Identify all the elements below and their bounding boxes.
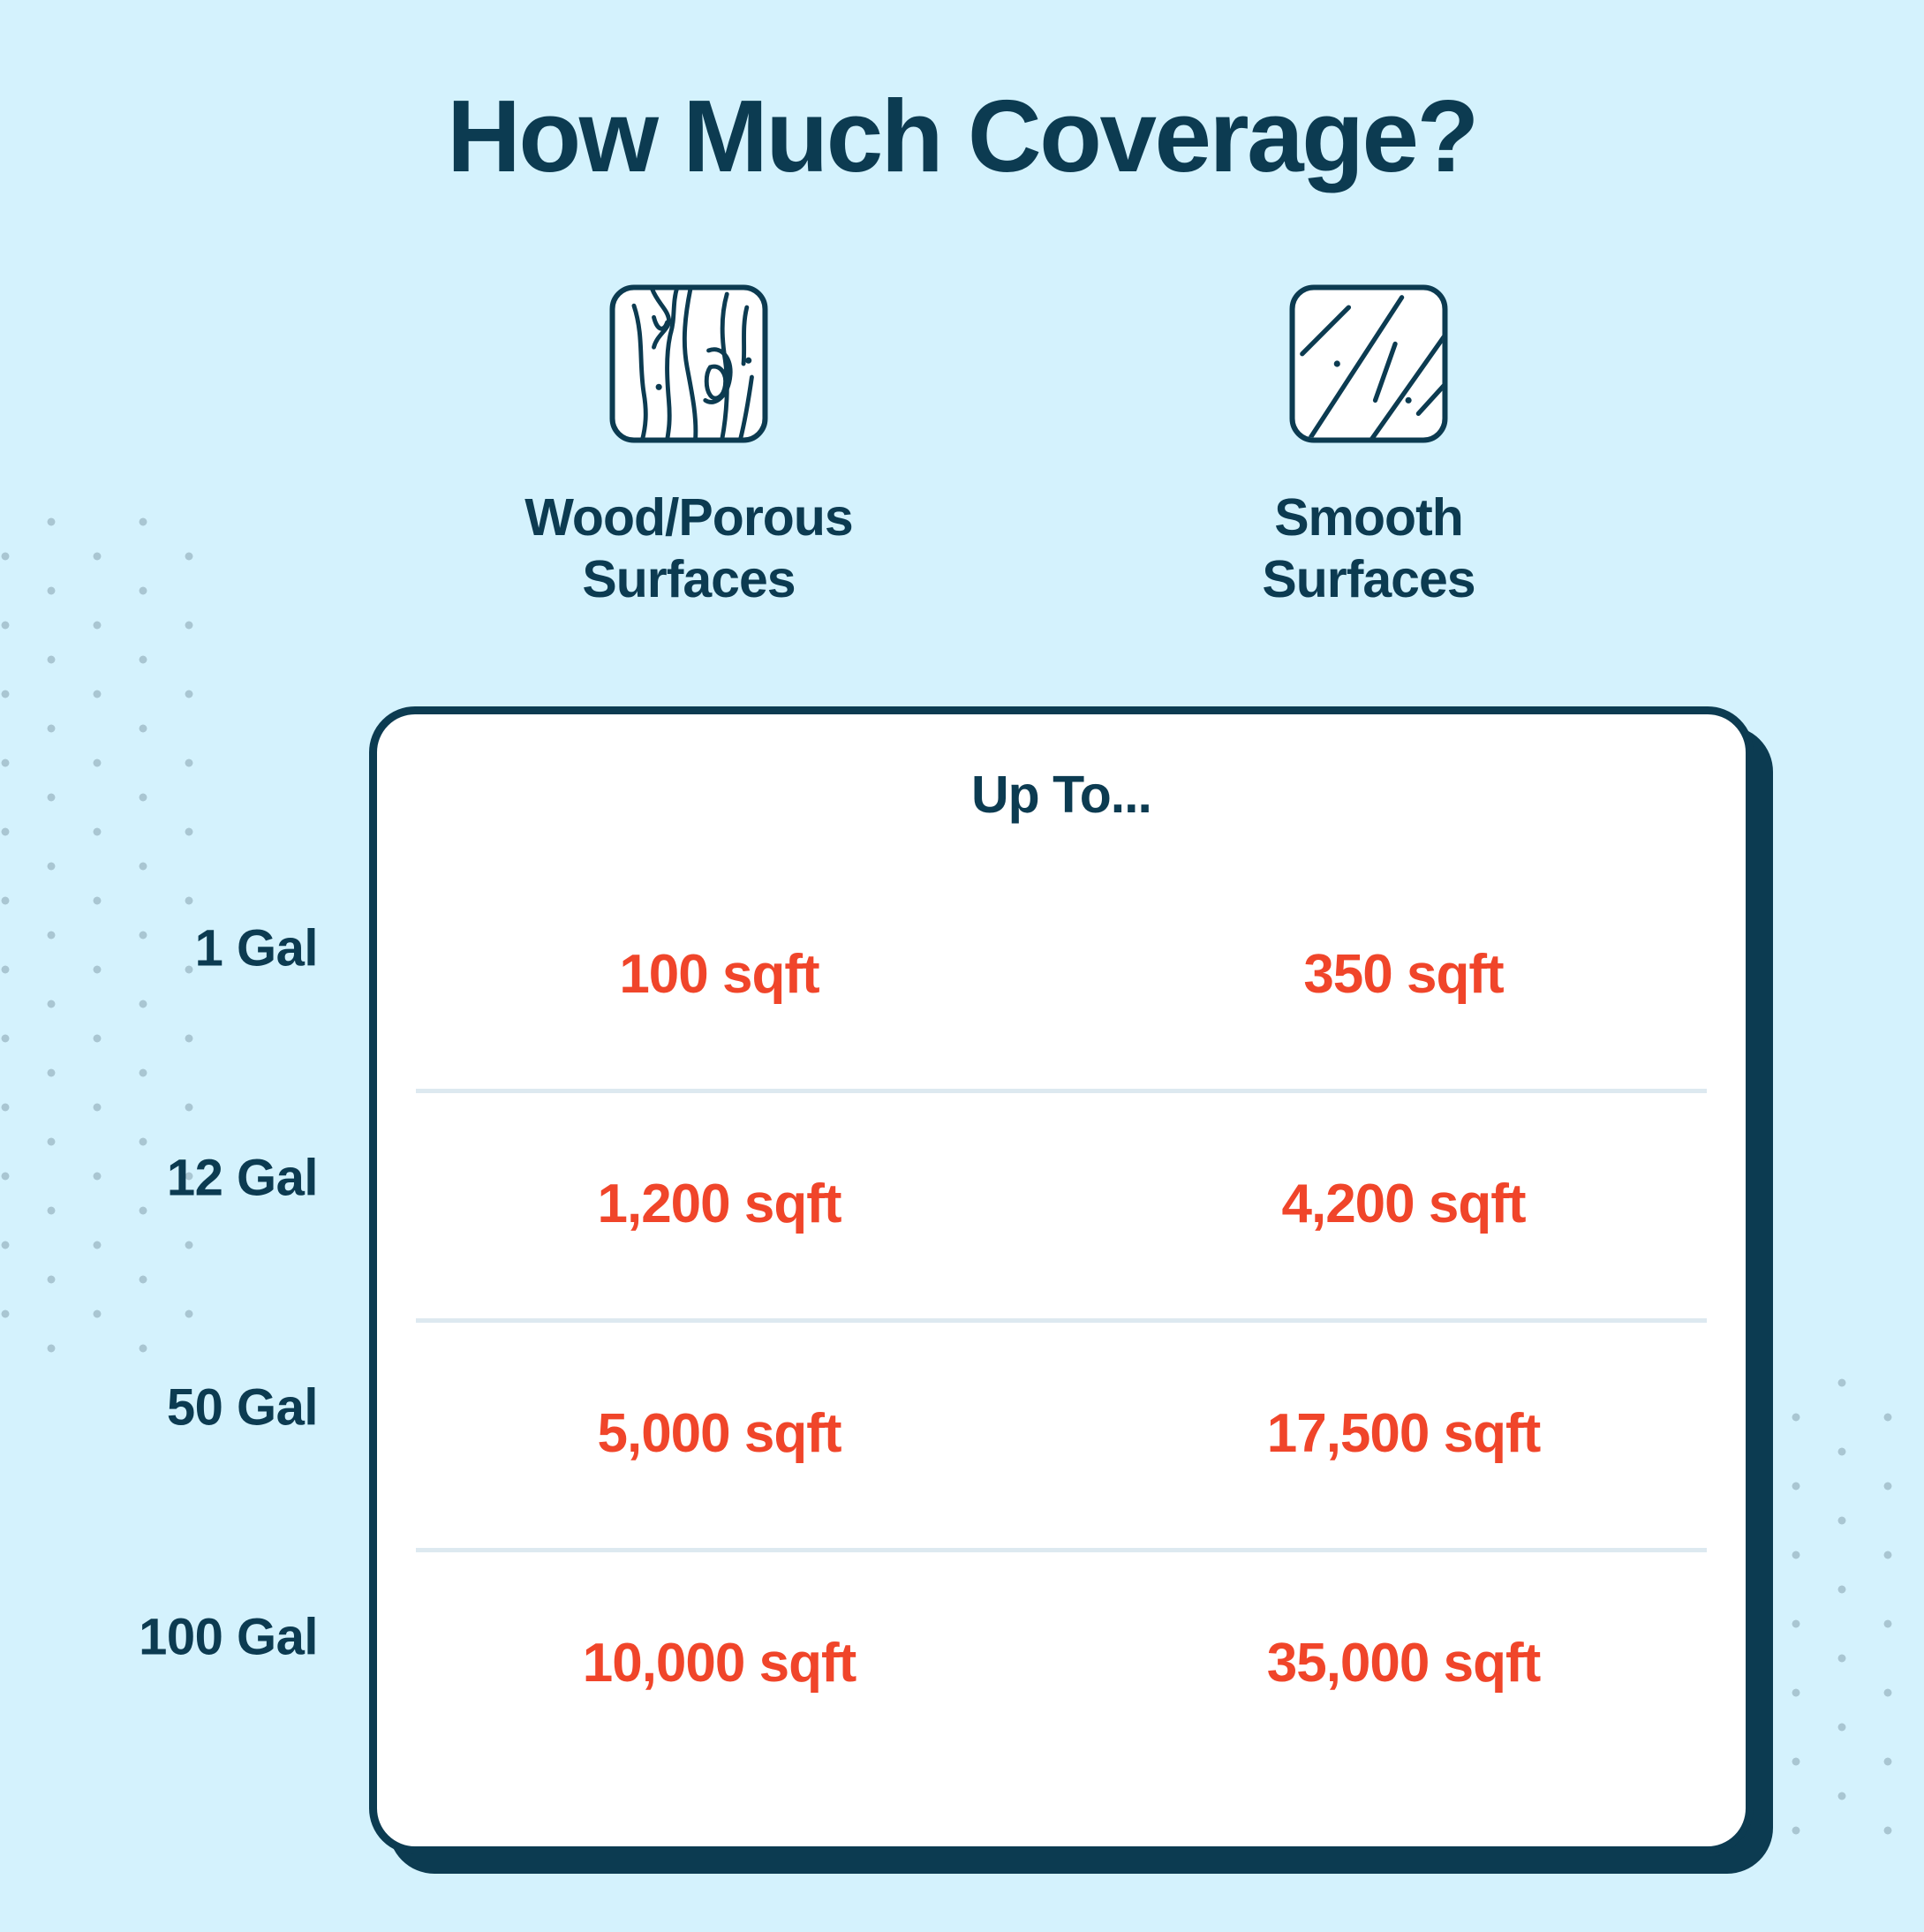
column-header-wood-porous: Wood/Porous Surfaces — [459, 281, 918, 610]
cell-wood-1-gal: 100 sqft — [377, 859, 1061, 1089]
column-label-smooth: Smooth Surfaces — [1139, 487, 1598, 610]
page-title: How Much Coverage? — [0, 83, 1924, 191]
cell-smooth-100-gal: 35,000 sqft — [1061, 1548, 1746, 1777]
row-label-1-gal: 1 Gal — [0, 919, 318, 978]
row-label-50-gal: 50 Gal — [0, 1378, 318, 1438]
table-row: 100 sqft 350 sqft — [377, 859, 1746, 1089]
cell-wood-12-gal: 1,200 sqft — [377, 1089, 1061, 1318]
table-row: 1,200 sqft 4,200 sqft — [377, 1089, 1746, 1318]
column-header-smooth: Smooth Surfaces — [1139, 281, 1598, 610]
column-label-wood-porous: Wood/Porous Surfaces — [459, 487, 918, 610]
cell-smooth-50-gal: 17,500 sqft — [1061, 1318, 1746, 1548]
table-row: 5,000 sqft 17,500 sqft — [377, 1318, 1746, 1548]
coverage-infographic: How Much Coverage? Wood/Porous Surfaces — [0, 0, 1924, 1924]
cell-smooth-12-gal: 4,200 sqft — [1061, 1089, 1746, 1318]
row-label-100-gal: 100 Gal — [0, 1608, 318, 1667]
cell-wood-50-gal: 5,000 sqft — [377, 1318, 1061, 1548]
table-row: 10,000 sqft 35,000 sqft — [377, 1548, 1746, 1777]
smooth-surface-icon — [1286, 281, 1452, 447]
cell-smooth-1-gal: 350 sqft — [1061, 859, 1746, 1089]
cell-wood-100-gal: 10,000 sqft — [377, 1548, 1061, 1777]
row-label-12-gal: 12 Gal — [0, 1149, 318, 1208]
wood-grain-icon — [606, 281, 772, 447]
table-caption: Up To... — [377, 765, 1746, 825]
coverage-table-card: Up To... 100 sqft 350 sqft 1,200 sqft 4,… — [369, 706, 1754, 1854]
